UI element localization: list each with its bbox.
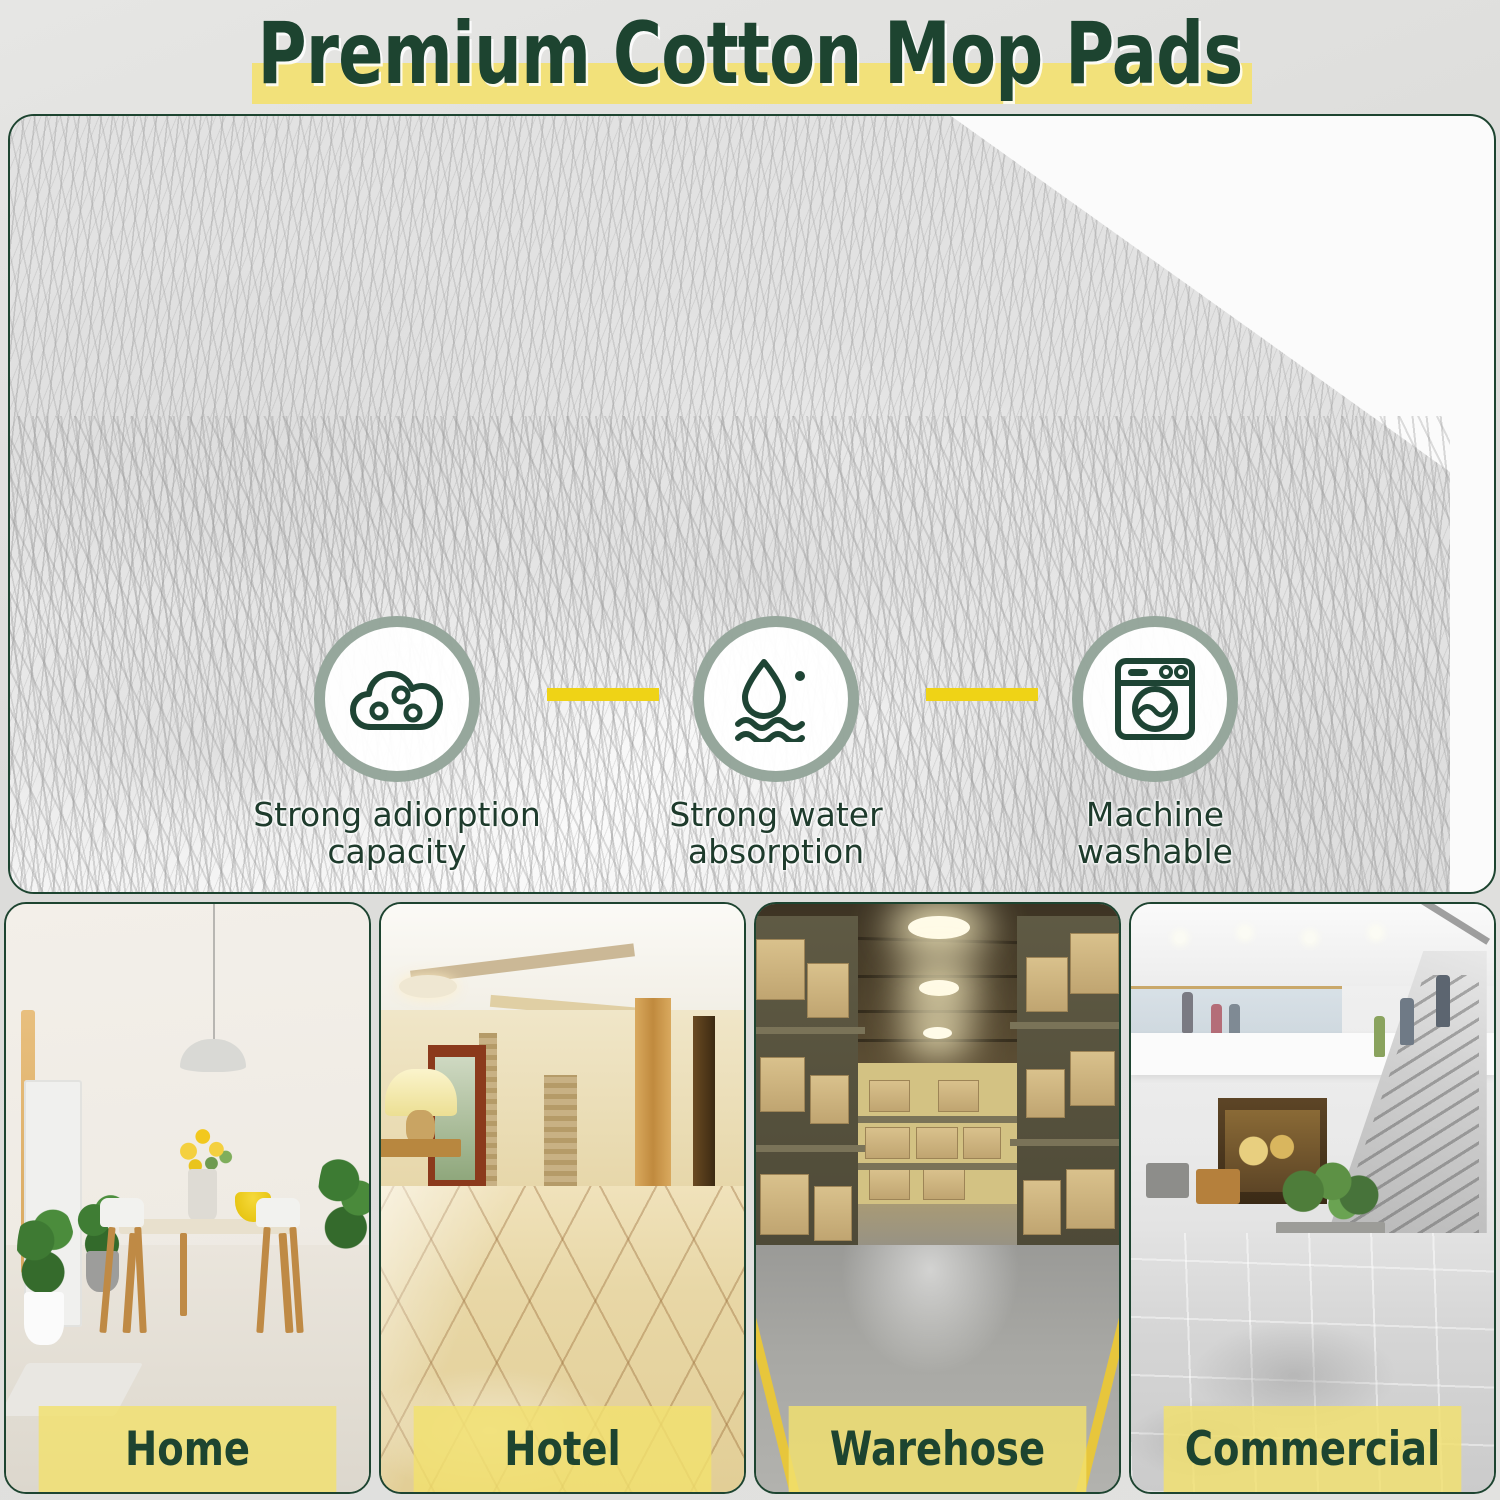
washing-machine-icon: [1109, 653, 1201, 745]
shopping-mall-photo: [1131, 904, 1494, 1492]
water-drop-waves-icon: [728, 656, 824, 742]
feature-label-line1: Strong adiorption: [253, 795, 541, 834]
use-case-label: Hotel: [414, 1406, 712, 1492]
use-case-gallery: Home: [4, 902, 1496, 1494]
feature-label-line2: washable: [1077, 832, 1233, 871]
use-case-label: Home: [39, 1406, 337, 1492]
feature-label: Machine washable: [990, 796, 1320, 870]
use-case-label: Commercial: [1164, 1406, 1462, 1492]
header-band: Premium Cotton Mop Pads: [0, 0, 1500, 112]
feature-machine-washable: Machine washable: [990, 616, 1320, 870]
hotel-lobby-photo: [381, 904, 744, 1492]
use-case-panel-home[interactable]: Home: [4, 902, 371, 1494]
feature-label-line1: Machine: [1086, 795, 1224, 834]
dining-room-photo: [6, 904, 369, 1492]
page-title: Premium Cotton Mop Pads: [165, 6, 1335, 102]
feature-label-line1: Strong water: [669, 795, 882, 834]
feature-badges: Strong adiorption capacity: [10, 616, 1494, 886]
feature-adsorption: Strong adiorption capacity: [232, 616, 562, 870]
hero-product-panel: Strong adiorption capacity: [8, 114, 1496, 894]
use-case-panel-commercial[interactable]: Commercial: [1129, 902, 1496, 1494]
feature-water-absorption: Strong water absorption: [611, 616, 941, 870]
feature-icon-circle: [693, 616, 859, 782]
dust-cloud-icon: [349, 661, 445, 737]
use-case-label: Warehose: [789, 1406, 1087, 1492]
feature-label-line2: absorption: [688, 832, 864, 871]
feature-icon-circle: [1072, 616, 1238, 782]
use-case-panel-warehouse[interactable]: Warehose: [754, 902, 1121, 1494]
feature-label-line2: capacity: [327, 832, 466, 871]
product-infographic: Premium Cotton Mop Pads: [0, 0, 1500, 1500]
feature-icon-circle: [314, 616, 480, 782]
use-case-panel-hotel[interactable]: Hotel: [379, 902, 746, 1494]
feature-label: Strong water absorption: [611, 796, 941, 870]
warehouse-aisle-photo: [756, 904, 1119, 1492]
feature-label: Strong adiorption capacity: [232, 796, 562, 870]
